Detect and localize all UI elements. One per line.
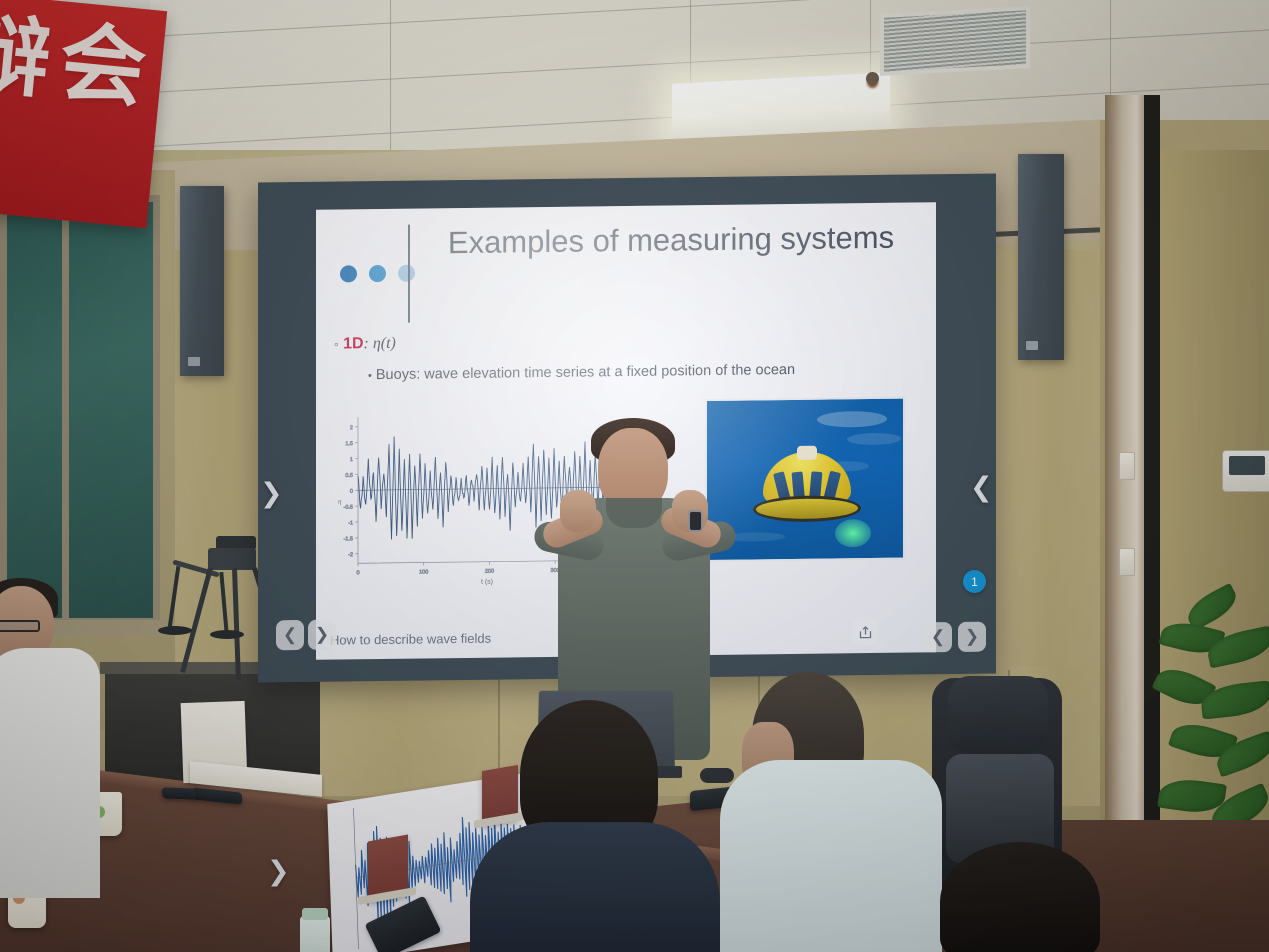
conference-room-photo: 辩会 bbox=[0, 0, 1269, 952]
light-switch-upper[interactable] bbox=[1119, 452, 1135, 480]
slide-next-button[interactable]: ❯ bbox=[958, 622, 986, 652]
slide-footer-text: How to describe wave fields bbox=[330, 631, 491, 648]
overlay-chevron-right-bottom[interactable]: ❯ bbox=[267, 856, 290, 887]
bullet-2-text: Buoys: wave elevation time series at a f… bbox=[376, 362, 795, 383]
svg-text:0.5: 0.5 bbox=[345, 473, 353, 479]
dot-1 bbox=[340, 265, 357, 282]
attendee-foreground-right bbox=[940, 842, 1100, 952]
notification-badge[interactable]: 1 bbox=[963, 570, 986, 593]
bullet-1-suffix: : η(t) bbox=[364, 335, 396, 352]
chart-xlabel: t (s) bbox=[481, 579, 493, 586]
svg-text:2: 2 bbox=[350, 425, 353, 431]
ocean-buoy bbox=[753, 451, 861, 524]
slide-dots bbox=[340, 265, 415, 283]
red-banner: 辩会 bbox=[0, 0, 167, 228]
svg-text:200: 200 bbox=[485, 569, 494, 575]
tripod-head bbox=[208, 548, 256, 570]
slide-next-button-left[interactable]: ❯ bbox=[308, 620, 336, 650]
slide-prev-button[interactable]: ❮ bbox=[924, 622, 952, 652]
banner-text: 辩会 bbox=[0, 10, 167, 115]
eyeglasses bbox=[0, 620, 40, 632]
mic-base-2 bbox=[210, 630, 244, 639]
bottle-cap bbox=[302, 908, 328, 920]
attendee-center-body bbox=[470, 822, 720, 952]
svg-text:-2: -2 bbox=[348, 552, 353, 558]
slide-bullet-2: • Buoys: wave elevation time series at a… bbox=[368, 362, 795, 383]
svg-text:-0.5: -0.5 bbox=[344, 505, 353, 511]
smartphone-2[interactable] bbox=[162, 787, 197, 799]
computer-mouse[interactable] bbox=[700, 768, 734, 783]
wall-speaker-left bbox=[180, 186, 224, 376]
dot-2 bbox=[369, 265, 386, 282]
light-switch-lower[interactable] bbox=[1119, 548, 1135, 576]
thermostat-screen bbox=[1229, 456, 1265, 475]
wall-speaker-right bbox=[1018, 154, 1064, 360]
overlay-chevron-right-left-edge[interactable]: ❯ bbox=[260, 478, 283, 509]
window-mullion bbox=[62, 195, 69, 625]
wall-panel-lower bbox=[300, 676, 500, 796]
bullet-1-prefix: 1D bbox=[343, 335, 363, 352]
slide-bullet-1: ◦ 1D: η(t) bbox=[334, 335, 396, 354]
presenter-collar bbox=[606, 498, 662, 528]
window bbox=[0, 195, 160, 625]
svg-text:0: 0 bbox=[356, 570, 359, 576]
mic-base-1 bbox=[158, 626, 192, 635]
title-divider-rule bbox=[408, 225, 410, 323]
overlay-chevron-left-right-edge[interactable]: ❮ bbox=[970, 472, 993, 503]
share-icon[interactable] bbox=[852, 619, 878, 645]
green-light-reflection bbox=[835, 519, 871, 547]
slide-prev-button-left[interactable]: ❮ bbox=[276, 620, 304, 650]
sprinkler-head bbox=[866, 72, 879, 85]
svg-text:1: 1 bbox=[350, 457, 353, 463]
svg-text:0: 0 bbox=[350, 489, 353, 495]
presenter-hand-left bbox=[560, 490, 596, 532]
attendee-right-light-polo bbox=[720, 760, 942, 952]
svg-text:100: 100 bbox=[419, 569, 428, 575]
svg-text:1.5: 1.5 bbox=[345, 441, 353, 447]
slide-title: Examples of measuring systems bbox=[436, 221, 906, 261]
wristwatch bbox=[688, 510, 703, 532]
water-bottle bbox=[300, 916, 330, 952]
hvac-vent-grille bbox=[880, 6, 1030, 76]
attendee-left-white-shirt bbox=[0, 648, 100, 898]
svg-text:-1: -1 bbox=[348, 520, 353, 526]
chair-headrest bbox=[948, 676, 1048, 754]
thermostat-panel[interactable] bbox=[1222, 450, 1269, 492]
svg-text:-1.5: -1.5 bbox=[344, 536, 353, 542]
dot-3 bbox=[398, 265, 415, 282]
chart-ylabel: η bbox=[338, 497, 342, 505]
door-jamb bbox=[1105, 95, 1147, 895]
